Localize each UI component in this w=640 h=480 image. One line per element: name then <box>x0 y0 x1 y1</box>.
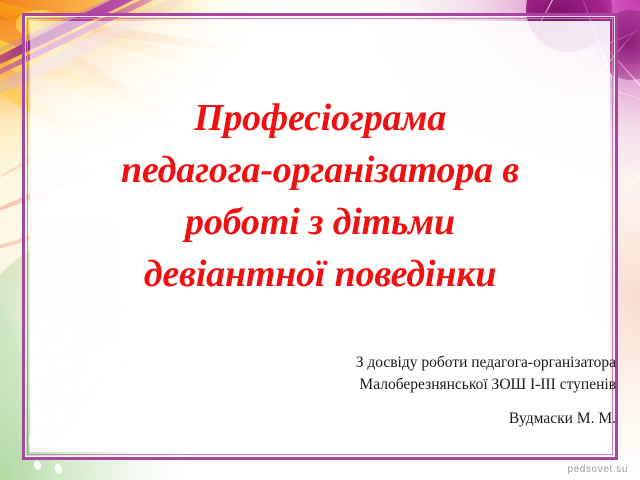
slide-title: Професіограма педагога-організатора в ро… <box>56 92 584 300</box>
presentation-slide: Професіограма педагога-організатора в ро… <box>0 0 640 480</box>
watermark-label: pedsovet.su <box>567 464 628 475</box>
slide-content: Професіограма педагога-організатора в ро… <box>0 0 640 480</box>
subtitle-block-author: Вудмаски М. М. <box>256 408 616 430</box>
title-line-2: педагога-організатора в <box>56 144 584 196</box>
slide-subtitle: З досвіду роботи педагога-організатора М… <box>256 352 616 430</box>
title-line-4: девіантної поведінки <box>56 248 584 300</box>
subtitle-line-1: З досвіду роботи педагога-організатора <box>256 352 616 374</box>
title-line-3: роботі з дітьми <box>56 196 584 248</box>
subtitle-line-2: Малоберезнянської ЗОШ І-ІІІ ступенів <box>256 374 616 396</box>
title-line-1: Професіограма <box>56 92 584 144</box>
subtitle-block-source: З досвіду роботи педагога-організатора М… <box>256 352 616 396</box>
author-name: Вудмаски М. М. <box>256 408 616 430</box>
